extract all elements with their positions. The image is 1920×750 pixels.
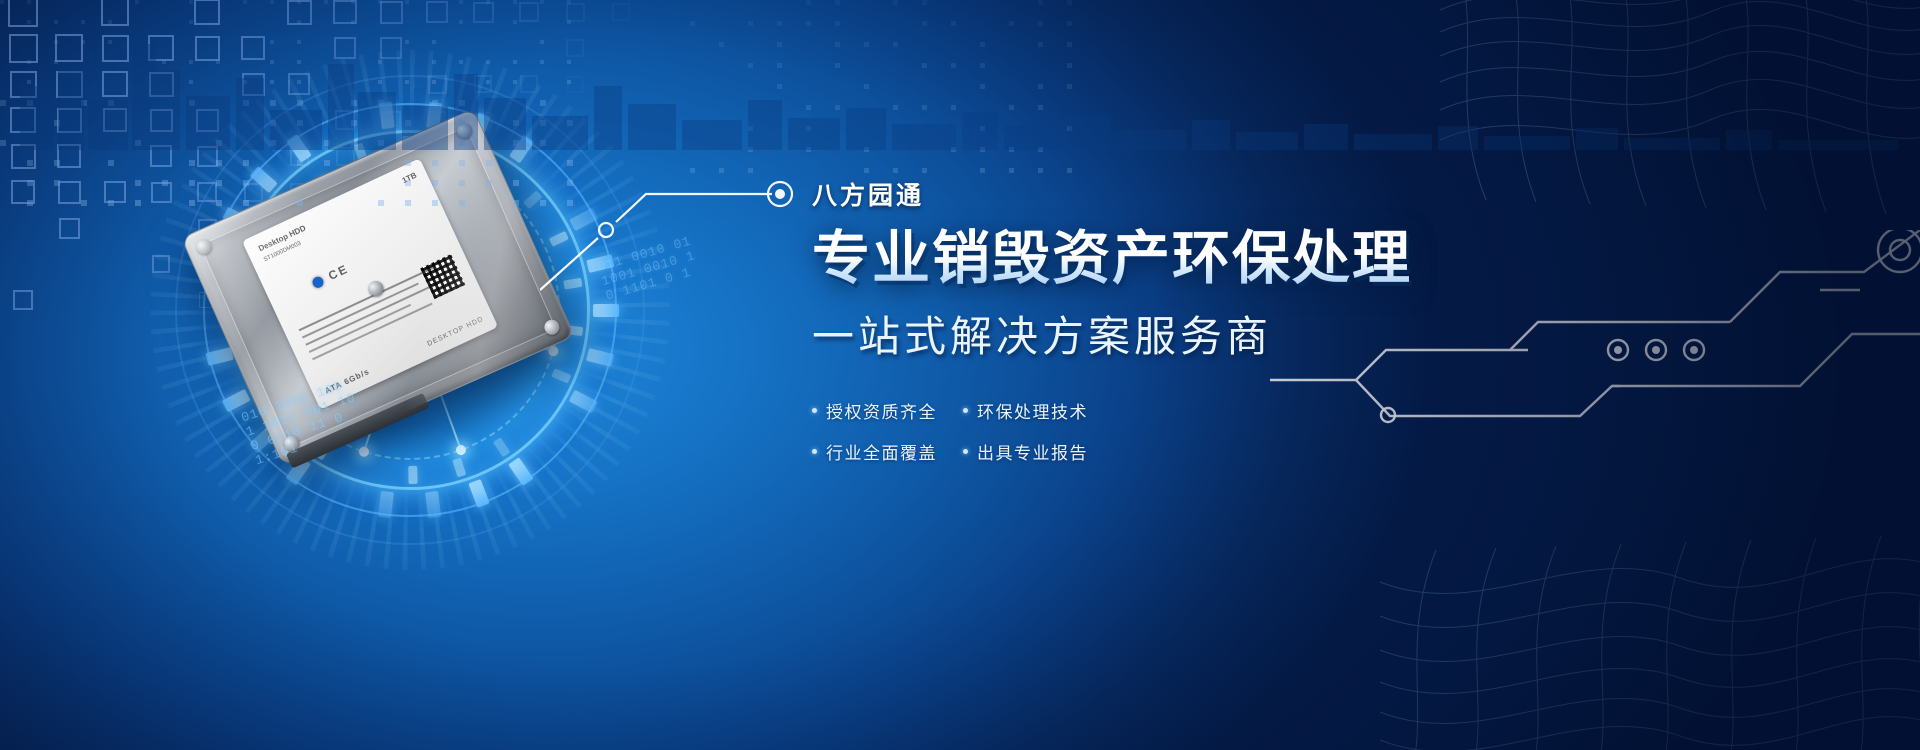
bullet-dot-icon — [812, 449, 817, 454]
bullet-dot-icon — [963, 408, 968, 413]
feature-row-1: 授权资质齐全 环保处理技术 — [812, 398, 1112, 423]
headline: 专业销毁资产环保处理 — [812, 228, 1572, 289]
bullet-dot-icon — [812, 408, 817, 413]
feature-label: 出具专业报告 — [977, 439, 1088, 464]
feature-list: 授权资质齐全 环保处理技术 行业全面覆盖 出具专业报告 — [812, 398, 1112, 464]
feature-item-1: 授权资质齐全 — [812, 398, 937, 423]
feature-label: 环保处理技术 — [977, 398, 1088, 423]
feature-label: 授权资质齐全 — [826, 398, 937, 423]
promo-banner: Desktop HDD 1TB ST1000DM003 CE ATA 6Gb/s… — [0, 0, 1920, 750]
feature-item-4: 出具专业报告 — [963, 439, 1088, 464]
subheadline: 一站式解决方案服务商 — [812, 303, 1572, 364]
feature-row-2: 行业全面覆盖 出具专业报告 — [812, 439, 1112, 464]
feature-item-2: 环保处理技术 — [963, 398, 1088, 423]
banner-copy: 八方园通 专业销毁资产环保处理 一站式解决方案服务商 授权资质齐全 环保处理技术… — [812, 176, 1572, 480]
hero-graphic: Desktop HDD 1TB ST1000DM003 CE ATA 6Gb/s… — [150, 100, 670, 520]
brand-name: 八方园通 — [812, 176, 1572, 212]
mesh-bottom-svg — [1380, 530, 1920, 750]
connector-line-decoration — [540, 170, 840, 300]
feature-label: 行业全面覆盖 — [826, 439, 937, 464]
bullet-dot-icon — [963, 449, 968, 454]
feature-item-3: 行业全面覆盖 — [812, 439, 937, 464]
